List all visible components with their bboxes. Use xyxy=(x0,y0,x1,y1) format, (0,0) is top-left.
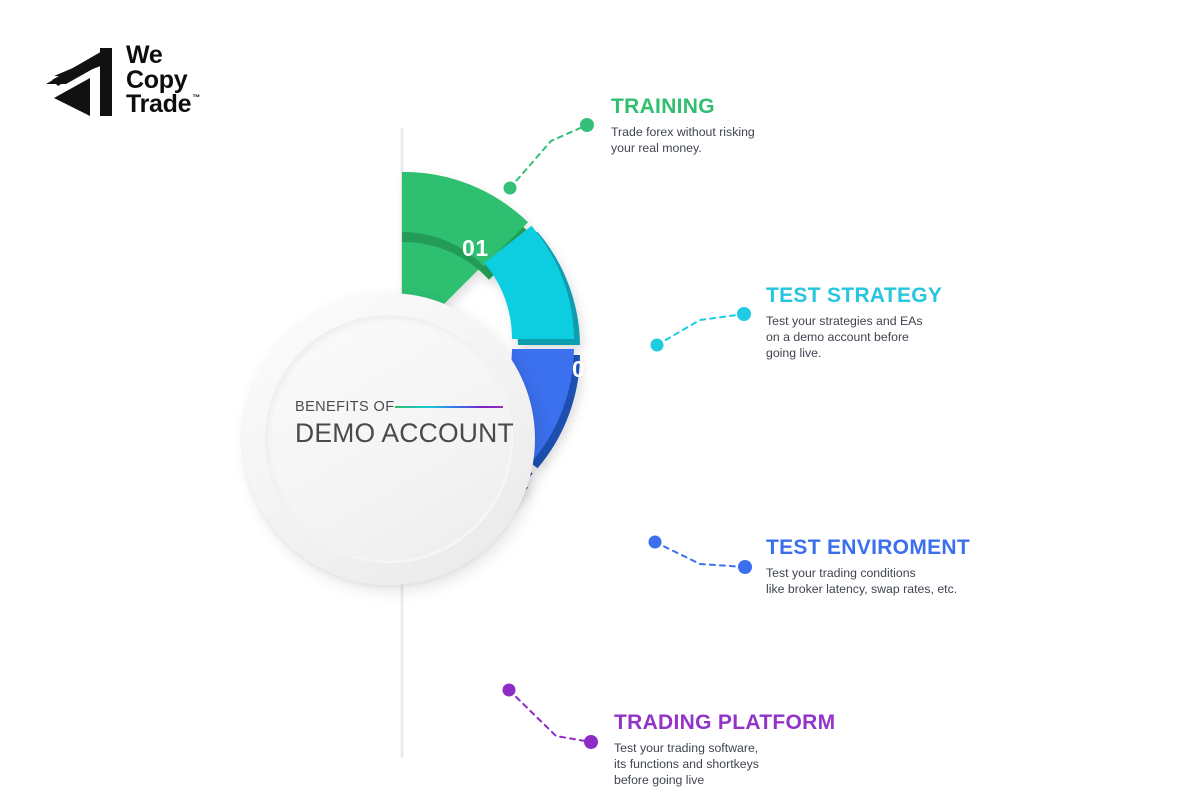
callout-description-01: Trade forex without risking your real mo… xyxy=(611,124,755,156)
callout-title-03: TEST ENVIROMENT xyxy=(766,536,970,560)
callout-description-04: Test your trading software, its function… xyxy=(614,740,835,789)
callout-title-04: TRADING PLATFORM xyxy=(614,711,835,735)
connector-01 xyxy=(504,118,595,195)
hub-title: DEMO ACCOUNT xyxy=(295,418,535,449)
hub-kicker-label: BENEFITS OF xyxy=(295,399,394,415)
center-hub: BENEFITS OF DEMO ACCOUNT xyxy=(243,293,535,585)
connector-04 xyxy=(503,684,599,750)
connector-02 xyxy=(651,307,752,352)
callout-block-03: TEST ENVIROMENT Test your trading condit… xyxy=(766,536,970,597)
infographic-canvas: We Copy Trade ™ xyxy=(0,0,1200,800)
donut-diagram xyxy=(0,0,1200,800)
gradient-rule-divider xyxy=(395,406,503,408)
callout-block-04: TRADING PLATFORM Test your trading softw… xyxy=(614,711,835,789)
callout-title-02: TEST STRATEGY xyxy=(766,284,942,308)
connector-03 xyxy=(649,536,753,575)
center-hub-text: BENEFITS OF DEMO ACCOUNT xyxy=(243,399,535,449)
callout-title-01: TRAINING xyxy=(611,95,755,119)
callout-block-02: TEST STRATEGY Test your strategies and E… xyxy=(766,284,942,362)
callout-description-02: Test your strategies and EAs on a demo a… xyxy=(766,313,942,362)
callout-block-01: TRAINING Trade forex without risking you… xyxy=(611,95,755,156)
callout-description-03: Test your trading conditions like broker… xyxy=(766,565,970,597)
